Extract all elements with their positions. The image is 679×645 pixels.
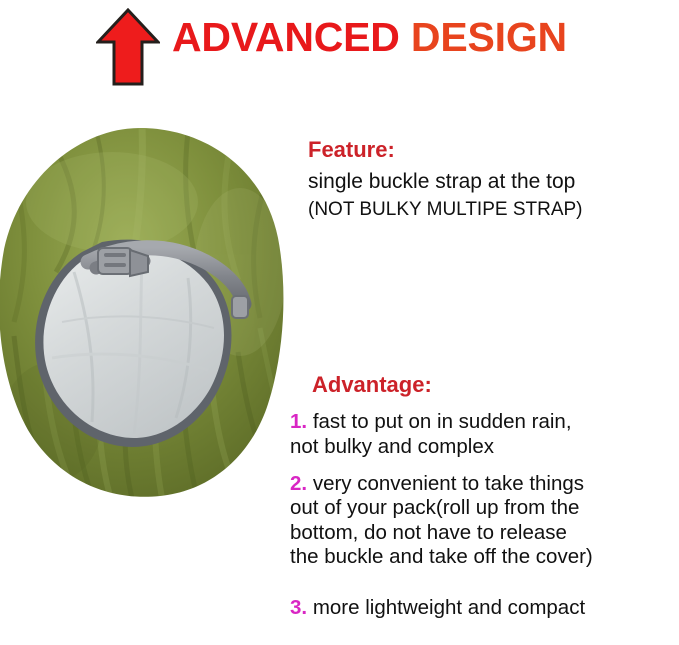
advantage-item-2: 2. very convenient to take things out of… [290, 472, 675, 570]
header-banner: ADVANCED DESIGN [0, 0, 679, 100]
advantage-item-3-number: 3. [290, 596, 307, 619]
headline-word-advanced: ADVANCED [172, 14, 400, 60]
advantage-item-1-line-2: not bulky and complex [290, 435, 675, 460]
headline-word-design: DESIGN [411, 14, 567, 60]
advantage-section: Advantage: 1. fast to put on in sudden r… [290, 372, 675, 621]
feature-line-2: (NOT BULKY MULTIPE STRAP) [308, 197, 674, 222]
feature-section: Feature: single buckle strap at the top … [308, 137, 674, 222]
up-arrow-icon [96, 8, 160, 86]
advantage-item-3: 3. more lightweight and compact [290, 596, 675, 621]
product-infographic-page: ADVANCED DESIGN [0, 0, 679, 645]
advantage-item-2-line-3: bottom, do not have to release [290, 521, 675, 546]
advantage-item-2-number: 2. [290, 472, 307, 495]
feature-heading: Feature: [308, 137, 674, 163]
product-image [0, 122, 288, 500]
advantage-item-1-number: 1. [290, 410, 307, 433]
advantage-item-2-line-1: very convenient to take things [313, 472, 584, 495]
advantage-item-3-line-1: more lightweight and compact [313, 596, 585, 619]
feature-line-1: single buckle strap at the top [308, 168, 674, 196]
advantage-item-2-line-4: the buckle and take off the cover) [290, 545, 675, 570]
page-title: ADVANCED DESIGN [172, 17, 567, 58]
advantage-item-2-line-2: out of your pack(roll up from the [290, 496, 675, 521]
advantage-heading: Advantage: [312, 372, 675, 398]
strap-keeper [232, 296, 248, 318]
advantage-item-1-line-1: fast to put on in sudden rain, [313, 410, 572, 433]
advantage-item-1: 1. fast to put on in sudden rain, not bu… [290, 410, 675, 459]
